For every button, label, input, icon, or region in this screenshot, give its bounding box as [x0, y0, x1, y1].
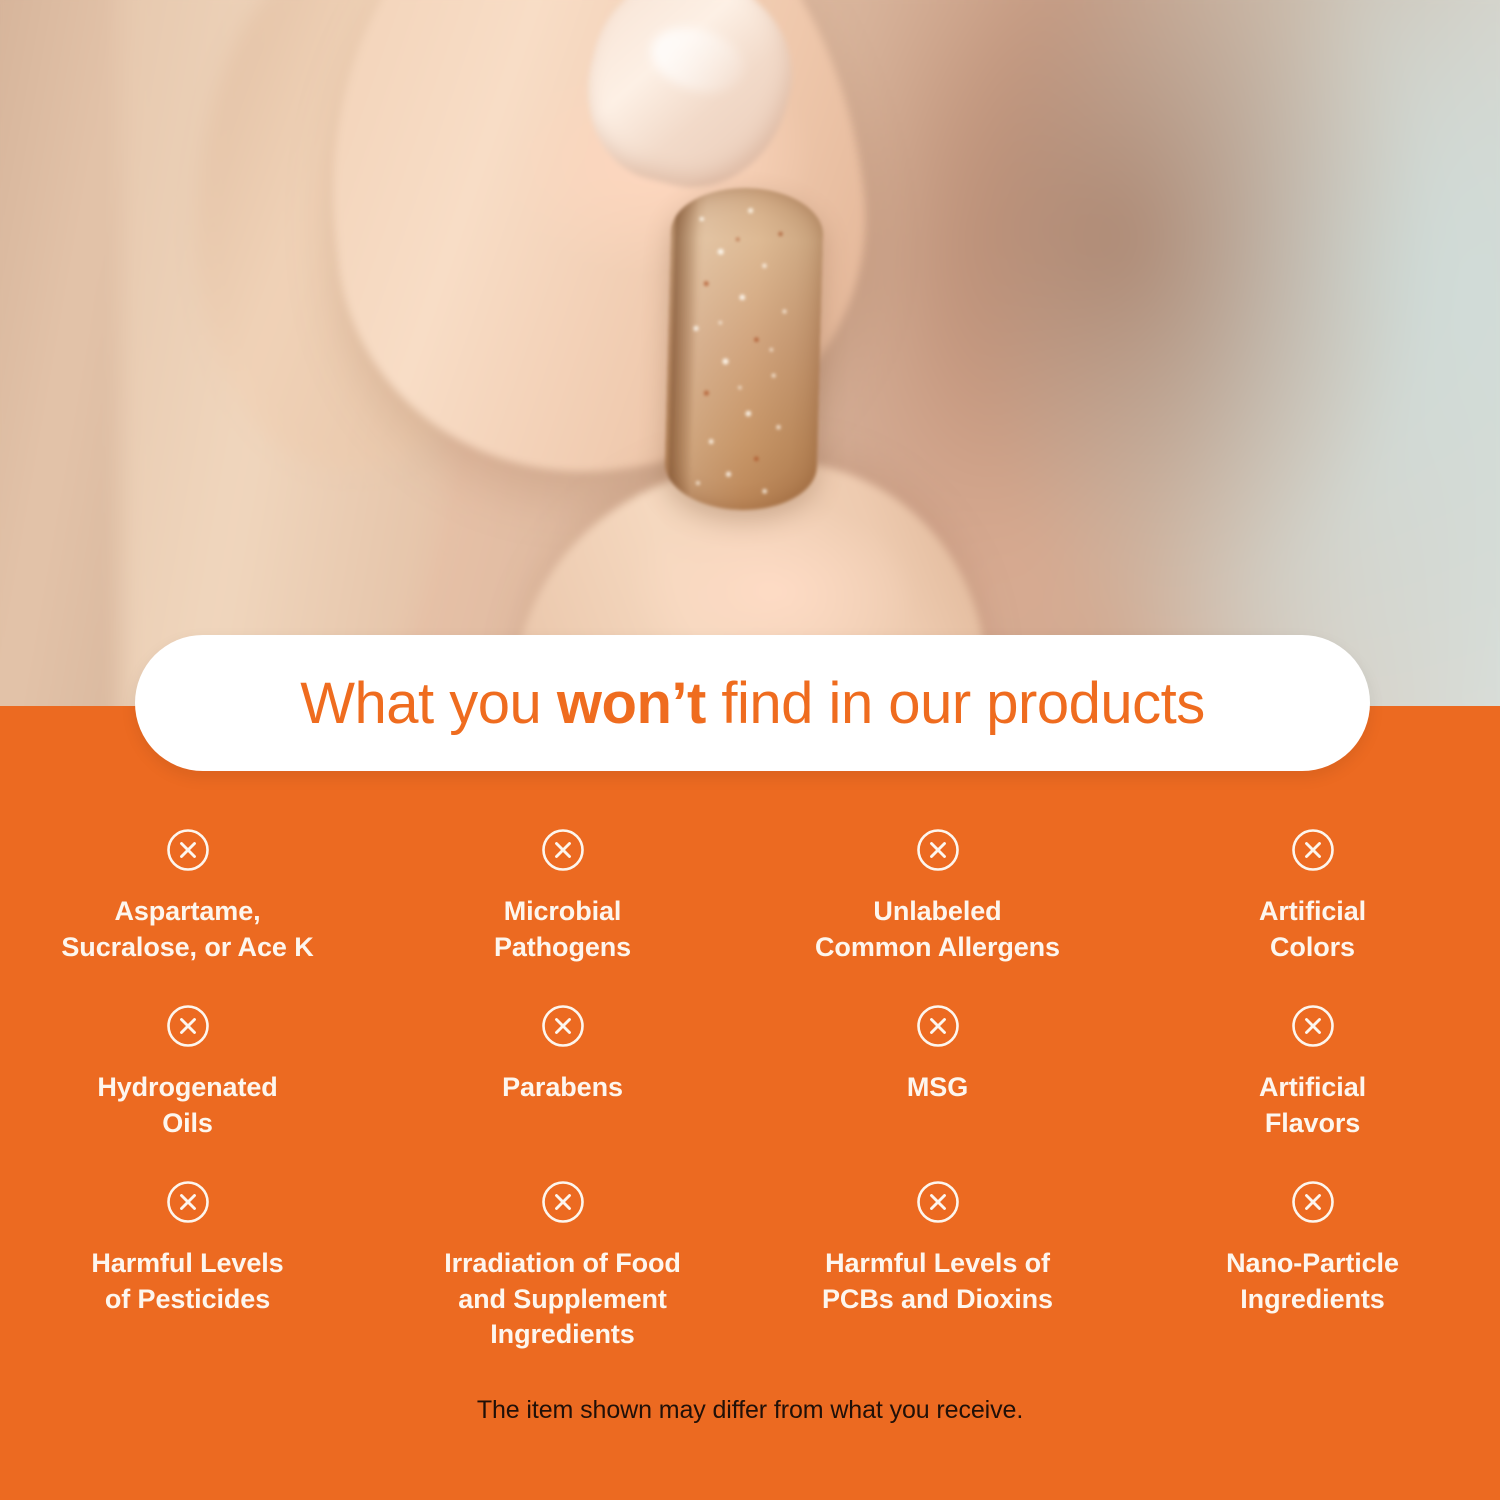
- circle-x-icon: [541, 828, 585, 872]
- exclusion-item: Harmful Levels ofPCBs and Dioxins: [750, 1174, 1125, 1350]
- exclusion-item-label: ArtificialColors: [1148, 894, 1478, 965]
- circle-x-icon: [166, 1004, 210, 1048]
- exclusion-item: MSG: [750, 998, 1125, 1174]
- exclusion-item: MicrobialPathogens: [375, 822, 750, 998]
- exclusion-item: Parabens: [375, 998, 750, 1174]
- exclusion-item: HydrogenatedOils: [0, 998, 375, 1174]
- page-title-emphasis: won’t: [557, 671, 706, 736]
- circle-x-icon: [916, 828, 960, 872]
- page-title-suffix: find in our products: [706, 671, 1205, 736]
- page-title-banner: What you won’t find in our products: [135, 635, 1370, 771]
- product-info-poster: What you won’t find in our products Aspa…: [0, 0, 1500, 1500]
- exclusion-item: Irradiation of Foodand SupplementIngredi…: [375, 1174, 750, 1350]
- page-title: What you won’t find in our products: [300, 670, 1204, 737]
- exclusion-item-label: Harmful Levelsof Pesticides: [23, 1246, 353, 1317]
- exclusion-item-label: Harmful Levels ofPCBs and Dioxins: [773, 1246, 1103, 1317]
- product-photo: [0, 0, 1500, 706]
- disclaimer-text: The item shown may differ from what you …: [477, 1396, 1023, 1424]
- exclusion-item-label: ArtificialFlavors: [1148, 1070, 1478, 1141]
- page-title-prefix: What you: [300, 671, 557, 736]
- exclusion-item: Harmful Levelsof Pesticides: [0, 1174, 375, 1350]
- exclusions-grid: Aspartame,Sucralose, or Ace KMicrobialPa…: [0, 822, 1500, 1350]
- exclusion-item: ArtificialColors: [1125, 822, 1500, 998]
- circle-x-icon: [541, 1180, 585, 1224]
- exclusion-item: UnlabeledCommon Allergens: [750, 822, 1125, 998]
- circle-x-icon: [1291, 1004, 1335, 1048]
- circle-x-icon: [916, 1004, 960, 1048]
- exclusion-item-label: Parabens: [398, 1070, 728, 1106]
- circle-x-icon: [916, 1180, 960, 1224]
- circle-x-icon: [541, 1004, 585, 1048]
- exclusion-item-label: HydrogenatedOils: [23, 1070, 353, 1141]
- circle-x-icon: [1291, 828, 1335, 872]
- exclusion-item-label: UnlabeledCommon Allergens: [773, 894, 1103, 965]
- exclusion-item-label: Nano-ParticleIngredients: [1148, 1246, 1478, 1317]
- circle-x-icon: [166, 1180, 210, 1224]
- exclusion-item-label: Irradiation of Foodand SupplementIngredi…: [398, 1246, 728, 1353]
- supplement-tablet: [664, 186, 824, 512]
- circle-x-icon: [1291, 1180, 1335, 1224]
- circle-x-icon: [166, 828, 210, 872]
- exclusion-item: Nano-ParticleIngredients: [1125, 1174, 1500, 1350]
- exclusion-item-label: MSG: [773, 1070, 1103, 1106]
- exclusion-item-label: MicrobialPathogens: [398, 894, 728, 965]
- exclusion-item: ArtificialFlavors: [1125, 998, 1500, 1174]
- footer: The item shown may differ from what you …: [0, 1396, 1500, 1425]
- exclusion-item-label: Aspartame,Sucralose, or Ace K: [23, 894, 353, 965]
- exclusion-item: Aspartame,Sucralose, or Ace K: [0, 822, 375, 998]
